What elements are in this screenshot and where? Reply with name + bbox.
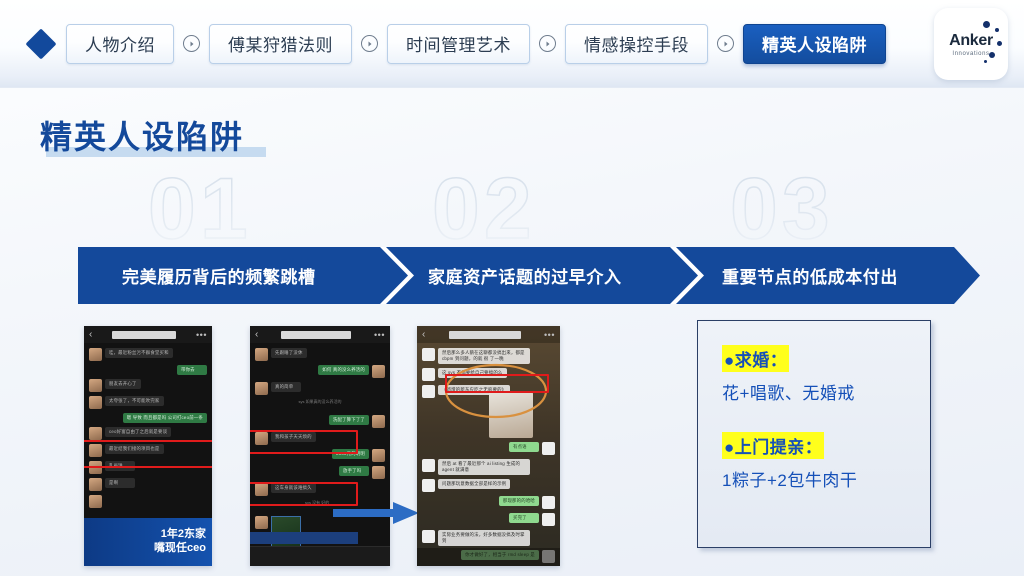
page-title: 精英人设陷阱 [36, 112, 248, 158]
banner-segment-label: 家庭资产话题的过早介入 [428, 263, 622, 288]
avatar [255, 516, 268, 529]
chat-message-row: 这车身就该难搞久 [250, 481, 390, 498]
chat-header: ‹ ••• [250, 326, 390, 343]
chat-message-row: 然后 at 看了最近那个 ai listing 生成的 agent 就满意 [417, 457, 560, 477]
system-message: sys 没有 好的 [305, 500, 335, 512]
avatar [255, 348, 268, 361]
message-bubble: 实际业务要做的法，好多数据没搞及时掌到 [438, 530, 530, 546]
chat-message-row: 有点语 [417, 440, 560, 457]
avatar [422, 368, 435, 381]
avatar [372, 466, 385, 479]
avatar [89, 461, 102, 474]
message-bubble: 洗配了算下了了 [329, 415, 369, 425]
summary-item-heading: ●上门提亲： [722, 432, 824, 459]
chat-header: ‹ ••• [417, 326, 560, 343]
avatar [422, 459, 435, 472]
watermark-number-01: 01 [148, 160, 252, 259]
chat-message-row: 2000元的明明 [250, 447, 390, 464]
avatar [372, 449, 385, 462]
avatar [542, 442, 555, 455]
banner-segment-label: 重要节点的低成本付出 [722, 263, 898, 288]
message-bubble: 这车身就该难搞久 [271, 483, 316, 493]
nav-tab-5-active[interactable]: 精英人设陷阱 [743, 24, 886, 64]
chat-message-row: 太夸张了，不可能吹完家 [84, 394, 212, 411]
message-bubble: 买完了 [509, 513, 539, 523]
chat-message-row: 先跟睡了没休 [250, 346, 390, 363]
circle-arrow-right-icon [361, 35, 378, 52]
back-chevron-icon[interactable]: ‹ [255, 330, 258, 340]
watermark-number-02: 02 [432, 160, 536, 259]
chat-message-row: 乱画饼 [84, 459, 212, 476]
back-chevron-icon[interactable]: ‹ [422, 330, 425, 340]
back-chevron-icon[interactable]: ‹ [89, 330, 92, 340]
chat-system-row: sys 如果真的没么养活的 [250, 397, 390, 413]
chat-header: ‹ ••• [84, 326, 212, 343]
avatar [422, 385, 435, 398]
chat-message-row: 嗯 导致 而且都是吗 公司打ceo前一条 [84, 411, 212, 425]
message-bubble: 是啊 [105, 478, 135, 488]
message-bubble: ceo好富自由了之后就是要谈 [105, 427, 171, 437]
message-bubble: 朋友去开心了 [105, 379, 141, 389]
avatar [89, 444, 102, 457]
anker-wordmark: Anker [949, 32, 993, 50]
avatar [89, 427, 102, 440]
banner-segment-3: 重要节点的低成本付出 [680, 247, 980, 304]
chat-screenshot-3[interactable]: ‹ ••• 然后那么多人鹅在这聊都没搞出来，都是 cbpm 到问题，的就 很 了… [417, 326, 560, 566]
nav-tab-label: 傅某狩猎法则 [228, 31, 333, 56]
message-bubble: 有点语 [509, 442, 539, 452]
summary-item-body: 花+唱歌、无婚戒 [722, 379, 930, 404]
message-bubble: 带你去 [177, 365, 207, 375]
more-options-icon[interactable]: ••• [544, 330, 555, 340]
message-bubble: 我和孩子天天烦的 [271, 432, 316, 442]
avatar [255, 483, 268, 496]
message-bubble: 嗯 导致 而且都是吗 公司打ceo前一条 [123, 413, 207, 423]
summary-info-box: ●求婚： 花+唱歌、无婚戒 ●上门提亲： 1粽子+2包牛肉干 [697, 320, 931, 548]
avatar [542, 513, 555, 526]
message-bubble: 放手了吗 [339, 466, 369, 476]
summary-item-body: 1粽子+2包牛肉干 [722, 466, 930, 491]
chat-message-row: 如何 真的没么养活的 [250, 363, 390, 380]
chat-message-row: 哇，最近粉丝污不群食堂买和 [84, 346, 212, 363]
top-navigation-bar: 人物介绍 傅某狩猎法则 时间管理艺术 情感操控手段 精英人设陷阱 Anker I… [0, 0, 1024, 88]
chat-message-row: 洗配了算下了了 [250, 413, 390, 430]
nav-tab-2[interactable]: 傅某狩猎法则 [209, 24, 352, 64]
blue-overlay-bar [250, 532, 358, 544]
message-bubble: 乱画饼 [105, 461, 135, 471]
chat-message-row: 那现那的的哈哈 [417, 494, 560, 511]
circle-arrow-right-icon [717, 35, 734, 52]
message-bubble: 问题那玩意数据全部是样的示例 [438, 479, 510, 489]
anker-logo: Anker Innovations [934, 8, 1008, 80]
diamond-bullet-icon [25, 28, 56, 59]
more-options-icon[interactable]: ••• [196, 330, 207, 340]
nav-tab-label: 时间管理艺术 [406, 31, 511, 56]
avatar [542, 496, 555, 509]
page-title-group: 精英人设陷阱 [36, 112, 248, 158]
chat-message-row: 问题那玩意数据全部是样的示例 [417, 477, 560, 494]
message-bubble: 那现那的的哈哈 [499, 496, 539, 506]
orange-circle-annotation-icon [443, 362, 549, 420]
chat-message-row: ceo好富自由了之后就是要谈 [84, 425, 212, 442]
summary-item-1: ●求婚： 花+唱歌、无婚戒 [722, 345, 930, 404]
summary-item-2: ●上门提亲： 1粽子+2包牛肉干 [722, 432, 930, 491]
avatar [422, 530, 435, 543]
watermark-number-03: 03 [730, 160, 834, 259]
chat-message-row: 带你去 [84, 363, 212, 377]
chat-message-row: 真的简单 [250, 380, 390, 397]
avatar [89, 495, 102, 508]
nav-tab-label: 精英人设陷阱 [762, 31, 867, 56]
avatar [372, 365, 385, 378]
chat-title-redacted [112, 331, 176, 339]
chat-screenshot-1[interactable]: ‹ ••• 哇，最近粉丝污不群食堂买和 带你去 朋友去开心了 太夸张了，不可能吹… [84, 326, 212, 566]
chat-title-redacted [281, 331, 351, 339]
caption-line-1: 1年2东家 [161, 528, 206, 542]
chat-title-redacted [449, 331, 521, 339]
nav-tab-label: 人物介绍 [85, 31, 155, 56]
avatar [89, 379, 102, 392]
avatar [89, 478, 102, 491]
circle-arrow-right-icon [183, 35, 200, 52]
chat-screenshot-2[interactable]: ‹ ••• 先跟睡了没休 如何 真的没么养活的 真的简单 sys 如果真的没么养… [250, 326, 390, 566]
blue-arrow-icon [333, 502, 419, 524]
avatar [255, 432, 268, 445]
chat-message-row: 朋友去开心了 [84, 377, 212, 394]
nav-tab-label: 情感操控手段 [584, 31, 689, 56]
chat-message-row: 买完了 [417, 511, 560, 528]
chat-message-row: 实际业务要做的法，好多数据没搞及时掌到 [417, 528, 560, 548]
chat-input-bar[interactable] [417, 548, 560, 566]
chat-message-row [84, 493, 212, 510]
banner-segment-1: 完美履历背后的频繁跳槽 [78, 247, 390, 304]
avatar [372, 415, 385, 428]
chat-message-row: 放手了吗 [250, 464, 390, 481]
more-options-icon[interactable]: ••• [374, 330, 385, 340]
avatar [422, 348, 435, 361]
banner-segment-label: 完美履历背后的频繁跳槽 [122, 263, 316, 288]
anker-tagline: Innovations [952, 51, 989, 57]
process-banner: 完美履历背后的频繁跳槽 家庭资产话题的过早介入 重要节点的低成本付出 [78, 247, 980, 304]
message-bubble: 2000元的明明 [332, 449, 369, 459]
summary-item-heading: ●求婚： [722, 345, 789, 372]
chat-message-row: 是啊 [84, 476, 212, 493]
message-bubble: 太夸张了，不可能吹完家 [105, 396, 164, 406]
system-message: sys 如果真的没么养活的 [298, 399, 341, 411]
nav-tab-4[interactable]: 情感操控手段 [565, 24, 708, 64]
caption-line-2: 嘴现任ceo [154, 542, 206, 556]
chat-input-bar[interactable] [250, 546, 390, 566]
banner-segment-2: 家庭资产话题的过早介入 [390, 247, 680, 304]
avatar [422, 479, 435, 492]
circle-arrow-right-icon [539, 35, 556, 52]
nav-tab-1[interactable]: 人物介绍 [66, 24, 174, 64]
chat-message-row: 我和孩子天天烦的 [250, 430, 390, 447]
avatar [255, 382, 268, 395]
avatar [89, 348, 102, 361]
message-bubble: 最近结我们接的项目也是 [105, 444, 164, 454]
message-bubble: 然后 at 看了最近那个 ai listing 生成的 agent 就满意 [438, 459, 530, 475]
message-bubble: 如何 真的没么养活的 [318, 365, 369, 375]
message-bubble: 先跟睡了没休 [271, 348, 307, 358]
screenshot-1-caption: 1年2东家 嘴现任ceo [84, 518, 212, 566]
avatar [89, 396, 102, 409]
chat-message-row: 最近结我们接的项目也是 [84, 442, 212, 459]
message-bubble: 哇，最近粉丝污不群食堂买和 [105, 348, 173, 358]
nav-tab-3[interactable]: 时间管理艺术 [387, 24, 530, 64]
message-bubble: 真的简单 [271, 382, 301, 392]
